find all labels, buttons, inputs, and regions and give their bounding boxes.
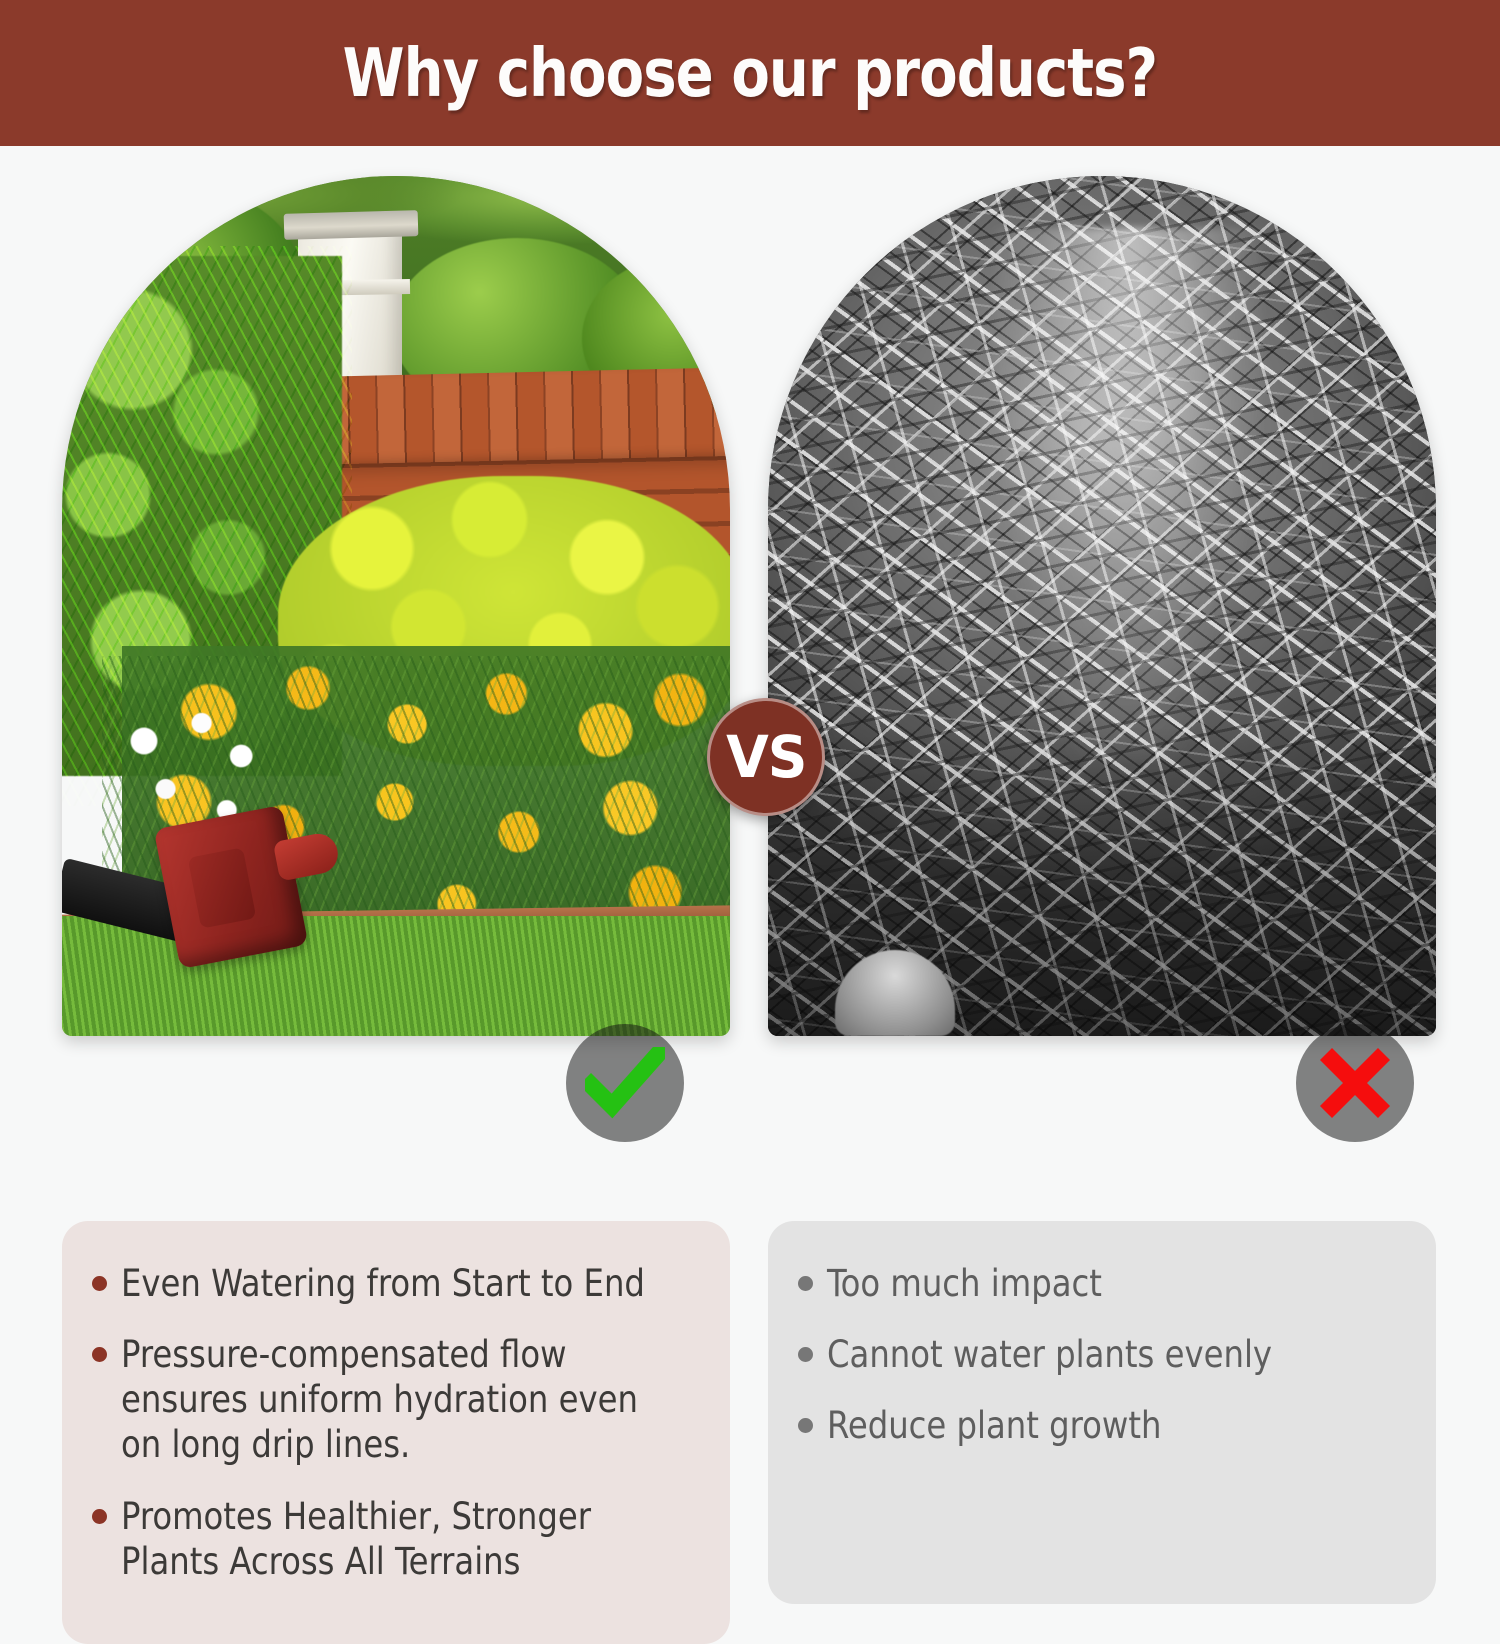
bullet-dot-icon	[92, 1509, 107, 1524]
good-badge	[566, 1024, 684, 1142]
vs-badge: VS	[707, 698, 825, 816]
bullet-dot-icon	[92, 1347, 107, 1362]
page-title: Why choose our products?	[343, 34, 1157, 112]
bullet-dot-icon	[798, 1418, 813, 1433]
brick-soldier-course	[293, 367, 730, 470]
bad-badge	[1296, 1024, 1414, 1142]
bullet-dot-icon	[798, 1347, 813, 1362]
list-item: Even Watering from Start to End	[92, 1261, 696, 1306]
pro-bullet-text: Pressure-compensated flow ensures unifor…	[121, 1332, 679, 1467]
dry-grass-photo	[768, 176, 1436, 1036]
list-item: Cannot water plants evenly	[798, 1332, 1402, 1377]
water-spray-burst	[995, 228, 1262, 761]
list-item: Too much impact	[798, 1261, 1402, 1306]
list-item: Promotes Healthier, Stronger Plants Acro…	[92, 1494, 696, 1584]
page-header: Why choose our products?	[0, 0, 1500, 146]
bullet-dot-icon	[798, 1276, 813, 1291]
comparison-stage: VS Even Watering from Start to End Press…	[0, 146, 1500, 1500]
pillar-cap	[284, 210, 419, 240]
garden-photo	[62, 176, 730, 1036]
bad-image-panel	[768, 176, 1436, 1036]
list-item: Pressure-compensated flow ensures unifor…	[92, 1332, 696, 1467]
vs-label: VS	[726, 723, 806, 791]
cons-card: Too much impact Cannot water plants even…	[768, 1221, 1436, 1604]
con-bullet-text: Reduce plant growth	[827, 1403, 1161, 1448]
pro-bullet-text: Promotes Healthier, Stronger Plants Acro…	[121, 1494, 679, 1584]
check-icon	[585, 1047, 665, 1119]
cross-icon	[1318, 1046, 1392, 1120]
pros-card: Even Watering from Start to End Pressure…	[62, 1221, 730, 1644]
bullet-dot-icon	[92, 1276, 107, 1291]
con-bullet-text: Too much impact	[827, 1261, 1102, 1306]
good-image-panel	[62, 176, 730, 1036]
pro-bullet-text: Even Watering from Start to End	[121, 1261, 645, 1306]
list-item: Reduce plant growth	[798, 1403, 1402, 1448]
con-bullet-text: Cannot water plants evenly	[827, 1332, 1272, 1377]
